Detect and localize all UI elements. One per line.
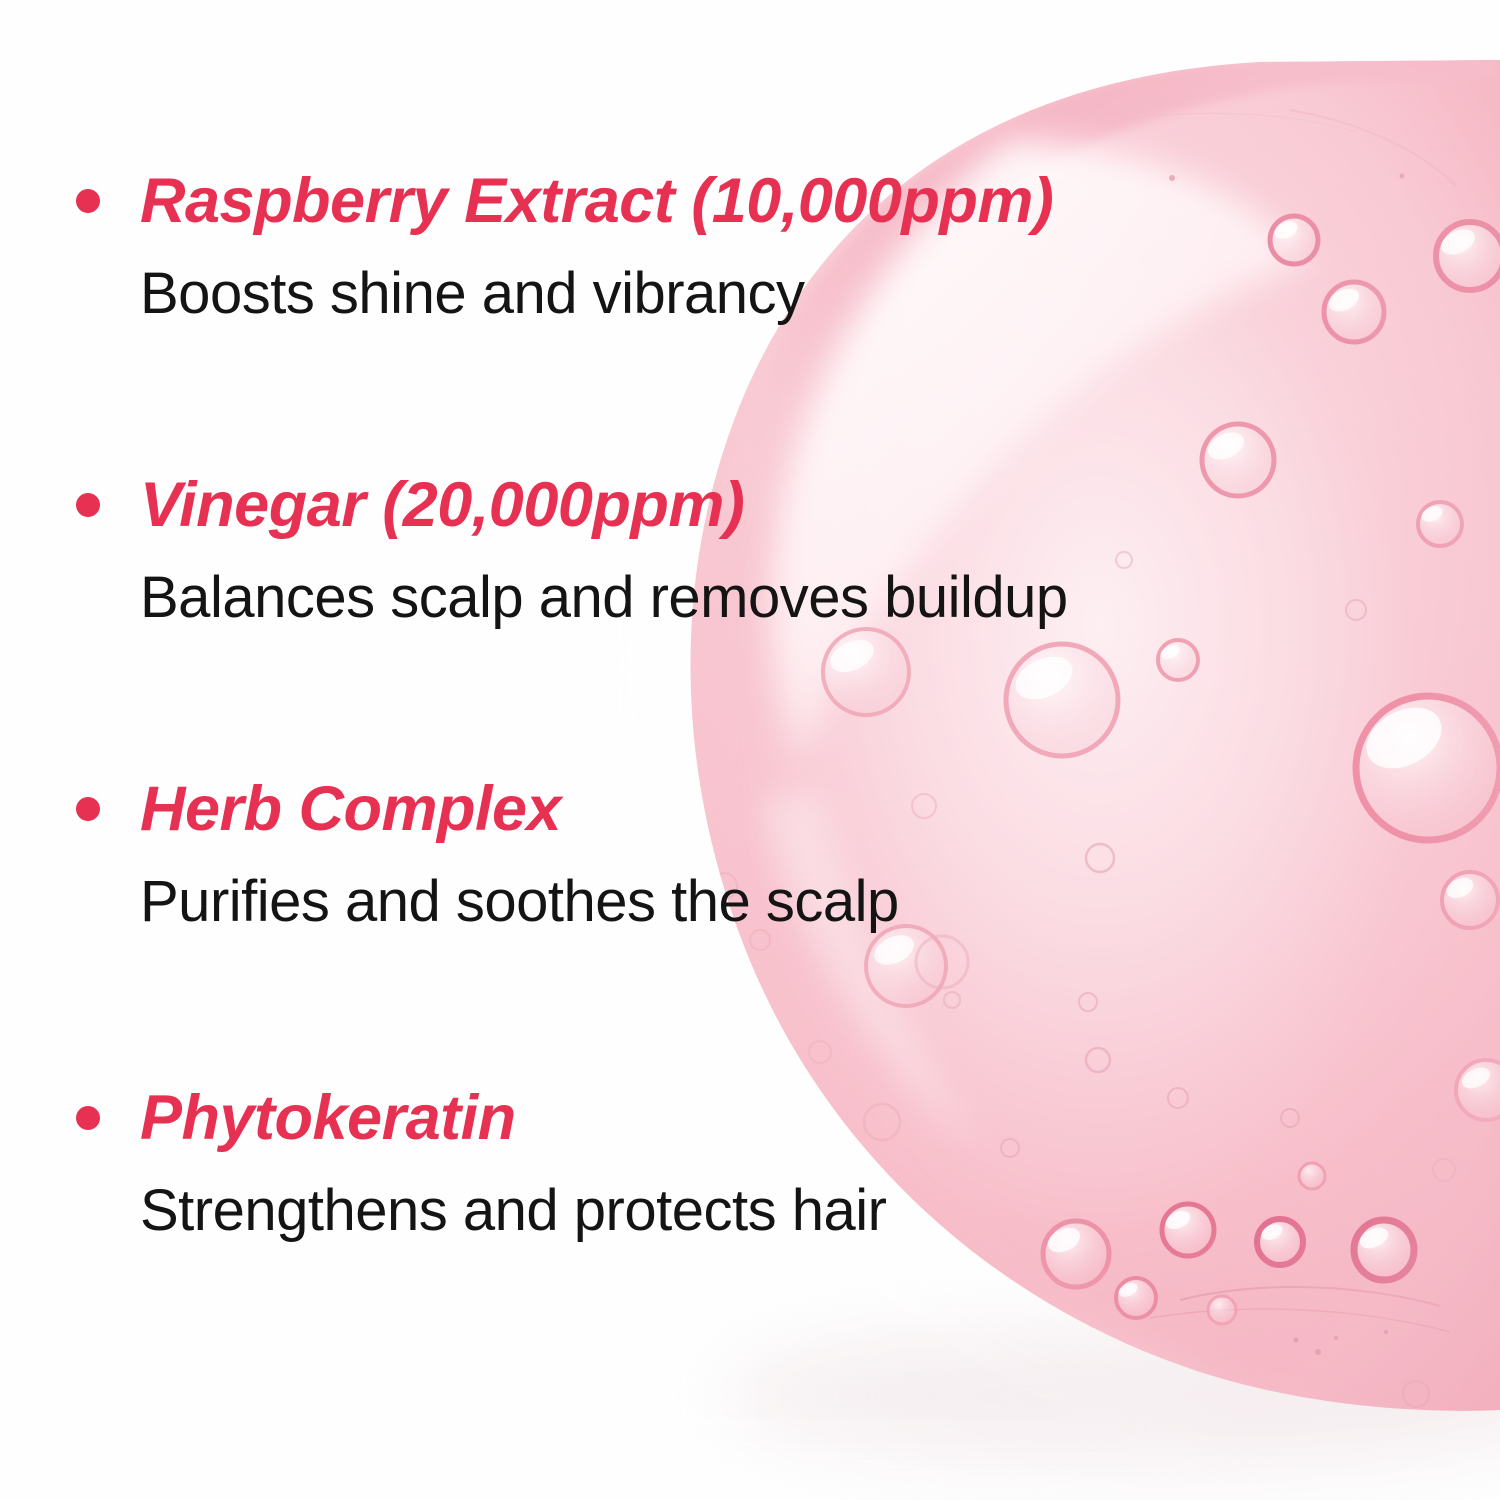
ingredient-item: Vinegar (20,000ppm) Balances scalp and r… [70, 462, 1360, 629]
infographic-canvas: Raspberry Extract (10,000ppm) Boosts shi… [0, 0, 1500, 1500]
bullet-dot-icon [76, 189, 100, 213]
ingredient-name: Phytokeratin [140, 1087, 516, 1150]
ingredient-list: Raspberry Extract (10,000ppm) Boosts shi… [0, 0, 1500, 1500]
ingredient-item: Herb Complex Purifies and soothes the sc… [70, 766, 1360, 933]
ingredient-benefit: Balances scalp and removes buildup [140, 568, 1360, 629]
ingredient-benefit: Boosts shine and vibrancy [140, 264, 1360, 325]
bullet-dot-icon [76, 797, 100, 821]
ingredient-item: Raspberry Extract (10,000ppm) Boosts shi… [70, 158, 1360, 325]
ingredient-name: Raspberry Extract (10,000ppm) [140, 170, 1053, 233]
ingredient-heading-row: Raspberry Extract (10,000ppm) [70, 158, 1360, 244]
ingredient-name: Vinegar (20,000ppm) [140, 474, 744, 537]
bullet-dot-icon [76, 1106, 100, 1130]
ingredient-heading-row: Phytokeratin [70, 1075, 1360, 1161]
ingredient-benefit: Purifies and soothes the scalp [140, 872, 1360, 933]
bullet-dot-icon [76, 493, 100, 517]
ingredient-heading-row: Herb Complex [70, 766, 1360, 852]
ingredient-name: Herb Complex [140, 778, 561, 841]
ingredient-heading-row: Vinegar (20,000ppm) [70, 462, 1360, 548]
ingredient-item: Phytokeratin Strengthens and protects ha… [70, 1075, 1360, 1242]
ingredient-benefit: Strengthens and protects hair [140, 1181, 1360, 1242]
